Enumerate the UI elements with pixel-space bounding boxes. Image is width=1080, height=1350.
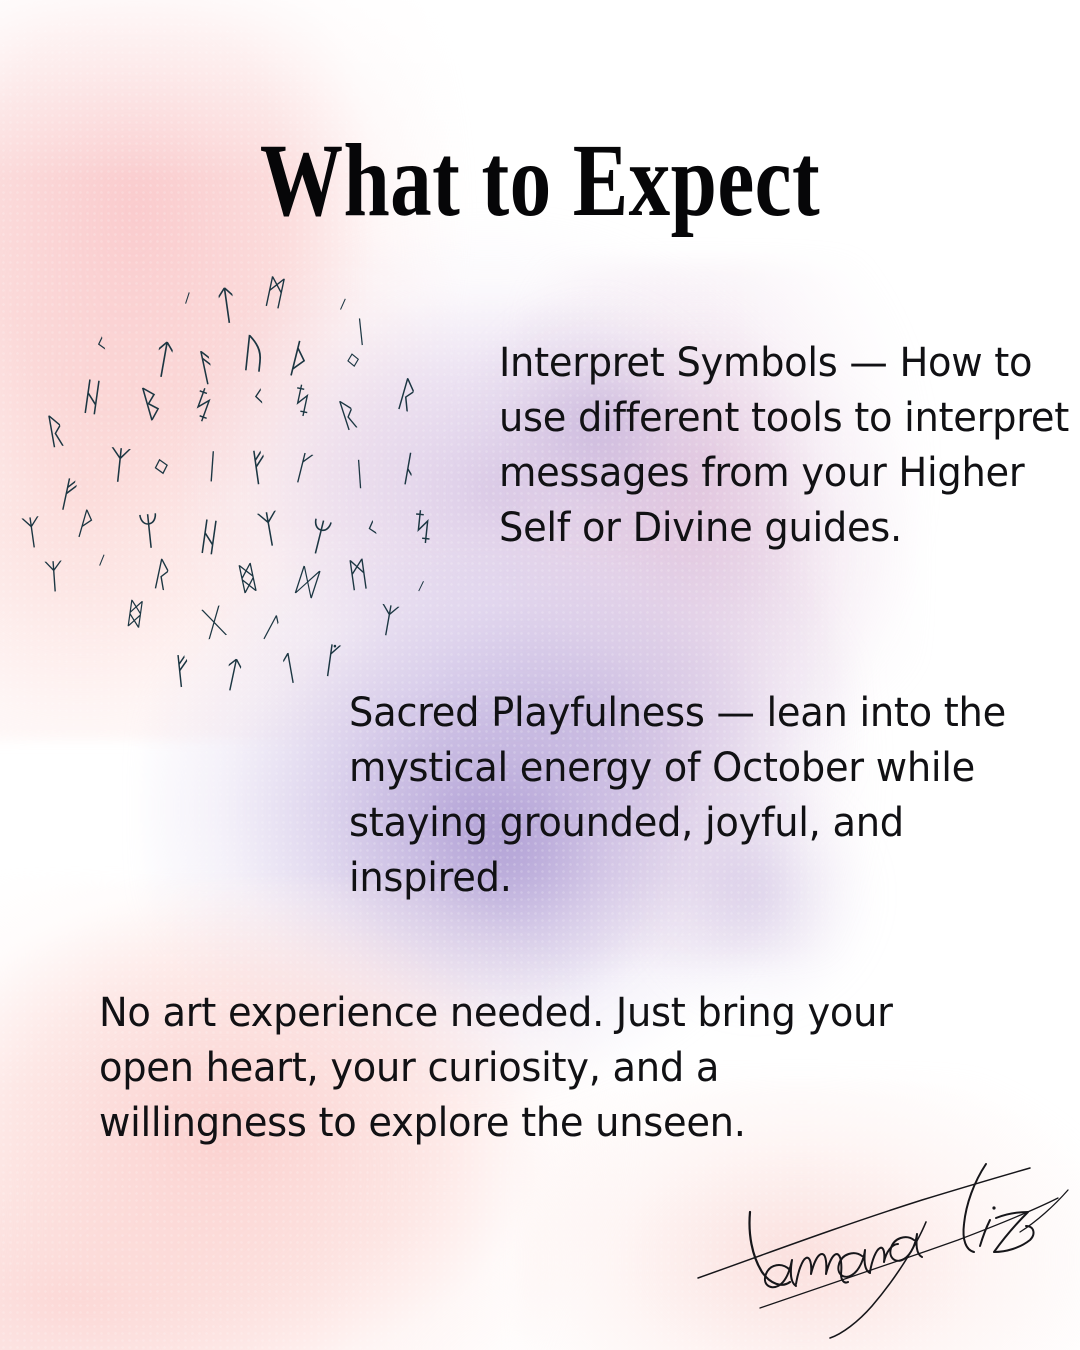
rune-glyph: ᛏ [212,285,241,328]
rune-glyph: ᛉ [106,445,133,485]
rune-glyph: ᛜ [148,450,174,486]
rune-glyph: ᛌ [174,288,197,318]
rune-glyph: ᚱ [149,556,176,593]
rune-glyph: ᚺ [78,377,106,418]
rune-glyph: ᚠ [245,447,273,488]
rune-glyph: ᚲ [246,379,270,415]
rune-glyph: ᚱ [42,412,70,451]
rune-glyph: ᛁ [349,457,370,490]
rune-glyph: ᛚ [256,612,286,647]
rune-glyph: ᛌ [407,576,430,604]
rune-glyph: ᛜ [343,347,364,377]
rune-glyph: ᛏ [149,338,180,382]
rune-glyph: ᛪ [186,385,219,426]
paragraph-sacred-playfulness: Sacred Playfulness — lean into the mysti… [349,686,1011,906]
rune-glyph: ᛗ [262,274,289,311]
paragraph-no-art-experience: No art experience needed. Just bring you… [99,986,896,1151]
rune-glyph: ᚢ [240,333,268,375]
rune-glyph: ᚠ [170,653,195,691]
rune-glyph: ᚿ [395,450,423,489]
rune-glyph: ᚺ [195,517,223,558]
rune-glyph: ᛥ [124,599,146,631]
rune-glyph: ᛌ [328,294,353,324]
paragraph-interpret-symbols: Interpret Symbols — How to use different… [499,336,1075,556]
rune-glyph: ᛌ [88,550,112,580]
page-title: What to Expect [108,128,972,234]
rune-glyph: ᚷ [200,604,228,642]
rune-glyph: ᛗ [346,557,371,594]
rune-glyph: ᚵ [320,643,346,682]
rune-glyph: ᛘ [136,511,163,551]
rune-glyph: ᛉ [375,602,401,639]
rune-glyph: ᛐ [275,650,301,687]
rune-glyph: ᚲ [358,510,385,546]
rune-glyph: ᛒ [135,382,167,425]
rune-glyph: ᛁ [201,449,224,484]
rune-glyph: ᛉ [20,515,45,552]
rune-glyph: ᚴ [290,450,318,488]
rune-glyph: ᛪ [289,382,316,419]
rune-glyph: ᚲ [89,328,114,361]
poster-canvas: ᛌᛏᛗᛌᛁᚲᛏᚨᚢᚦᛜᚺᛒᛪᚲᛪᚱᚱᚱᛉᛜᛁᚠᚴᛁᚿᚠᛉᚹᛘᚺᛉᛘᚲᛪᛉᛌᚱᛥᛞ… [0,0,1080,1350]
rune-glyph: ᛉ [43,559,66,594]
signature-tamara-liz [690,1160,1080,1340]
rune-glyph: ᛉ [255,508,284,549]
rune-glyph: ᚨ [192,346,222,388]
rune-glyph: ᛞ [294,564,322,600]
rune-glyph: ᚦ [284,338,317,383]
rune-glyph: ᚱ [333,396,363,435]
rune-glyph: ᛥ [235,560,260,595]
rune-glyph: ᛘ [304,516,335,558]
rune-glyph: ᚱ [391,376,422,417]
rune-glyph: ᛪ [410,509,435,547]
rune-glyph: ᛏ [218,656,247,696]
